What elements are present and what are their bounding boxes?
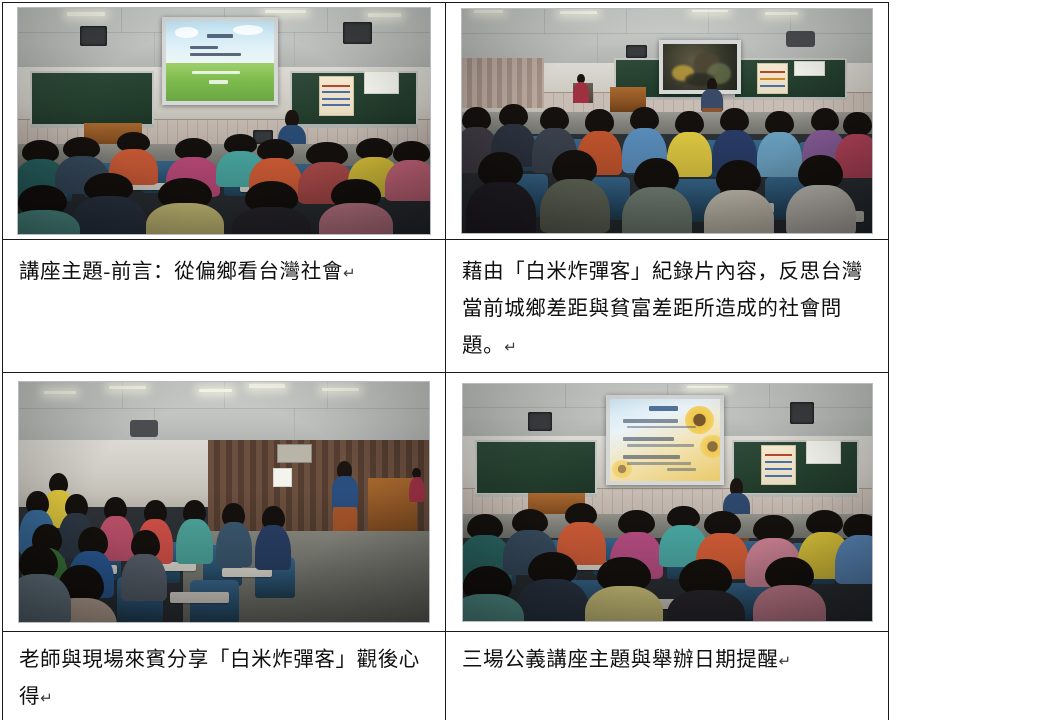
slide-session-schedule [610, 399, 721, 481]
paragraph-mark: ↵ [40, 690, 53, 707]
slide-rice-field [166, 21, 273, 101]
chalkboard-left [30, 71, 154, 125]
photo-wrap-top-left [3, 3, 445, 239]
lecture-hall-photo-intro [18, 8, 430, 234]
projector-screen [606, 395, 725, 485]
ceiling-speaker [626, 45, 647, 58]
lecture-hall-photo-sharing [19, 382, 429, 622]
ceiling-projector [130, 420, 159, 437]
cell-caption-top-left: 講座主題-前言：從偏鄉看台灣社會↵ [3, 240, 446, 373]
chalkboard-tray-right [290, 124, 418, 128]
air-conditioner [277, 444, 312, 463]
caption-top-left-text: 講座主題-前言：從偏鄉看台灣社會 [19, 261, 343, 283]
audience [18, 132, 430, 234]
wall-poster [761, 445, 796, 485]
caption-top-right-text: 藉由「白米炸彈客」紀錄片內容，反思台灣當前城鄉差距與貧富差距所造成的社會問題。 [462, 261, 863, 357]
wall-notice [794, 61, 825, 76]
caption-bottom-right: 三場公義講座主題與舉辦日期提醒↵ [446, 632, 888, 686]
chalkboard-right [733, 58, 848, 98]
paragraph-mark: ↵ [504, 339, 517, 356]
projector-screen [162, 17, 277, 105]
wall-notice [806, 440, 841, 463]
audience [462, 99, 872, 233]
cell-caption-bottom-left: 老師與現場來賓分享「白米炸彈客」觀後心得↵ [3, 632, 446, 720]
caption-bottom-left: 老師與現場來賓分享「白米炸彈客」觀後心得↵ [3, 632, 445, 720]
wall-poster [757, 63, 788, 94]
photo-caption-table: 講座主題-前言：從偏鄉看台灣社會↵ 藉由「白米炸彈客」紀錄片內容，反思台灣當前城… [2, 2, 889, 720]
photo-wrap-top-right [446, 3, 888, 239]
caption-bottom-left-text: 老師與現場來賓分享「白米炸彈客」觀後心得 [19, 649, 420, 708]
lecture-hall-photo-documentary [462, 9, 872, 233]
wall-poster [319, 76, 354, 116]
ceiling-speaker-right [343, 22, 372, 45]
caption-top-right: 藉由「白米炸彈客」紀錄片內容，反思台灣當前城鄉差距與貧富差距所造成的社會問題。↵ [446, 240, 888, 372]
cell-caption-top-right: 藉由「白米炸彈客」紀錄片內容，反思台灣當前城鄉差距與貧富差距所造成的社會問題。↵ [446, 240, 889, 373]
caption-top-left: 講座主題-前言：從偏鄉看台灣社會↵ [3, 240, 445, 298]
page-root: 講座主題-前言：從偏鄉看台灣社會↵ 藉由「白米炸彈客」紀錄片內容，反思台灣當前城… [0, 0, 1040, 720]
table-row-photos-1 [3, 3, 889, 240]
chalkboard-left [475, 440, 598, 495]
ceiling-speaker-right [790, 402, 815, 423]
table-row-photos-2 [3, 373, 889, 632]
wall-notice [364, 71, 399, 93]
ceiling-speaker-left [80, 26, 107, 46]
photo-wrap-bottom-left [3, 373, 445, 631]
paragraph-mark: ↵ [779, 653, 792, 670]
cell-photo-bottom-right [446, 373, 889, 632]
photo-wrap-bottom-right [446, 373, 888, 631]
audience [19, 473, 347, 622]
table-row-captions-2: 老師與現場來賓分享「白米炸彈客」觀後心得↵ 三場公義講座主題與舉辦日期提醒↵ [3, 632, 889, 720]
cell-photo-bottom-left [3, 373, 446, 632]
paragraph-mark: ↵ [343, 265, 356, 282]
ceiling-projector [786, 31, 815, 47]
table-row-captions-1: 講座主題-前言：從偏鄉看台灣社會↵ 藉由「白米炸彈客」紀錄片內容，反思台灣當前城… [3, 240, 889, 373]
back-person [409, 468, 425, 502]
ceiling [19, 382, 429, 444]
cell-photo-top-left [3, 3, 446, 240]
audience [463, 502, 872, 621]
ceiling-speaker-left [528, 412, 553, 431]
cell-caption-bottom-right: 三場公義講座主題與舉辦日期提醒↵ [446, 632, 889, 720]
cell-photo-top-right [446, 3, 889, 240]
lecture-hall-photo-schedule [463, 384, 872, 621]
caption-bottom-right-text: 三場公義講座主題與舉辦日期提醒 [462, 649, 779, 671]
